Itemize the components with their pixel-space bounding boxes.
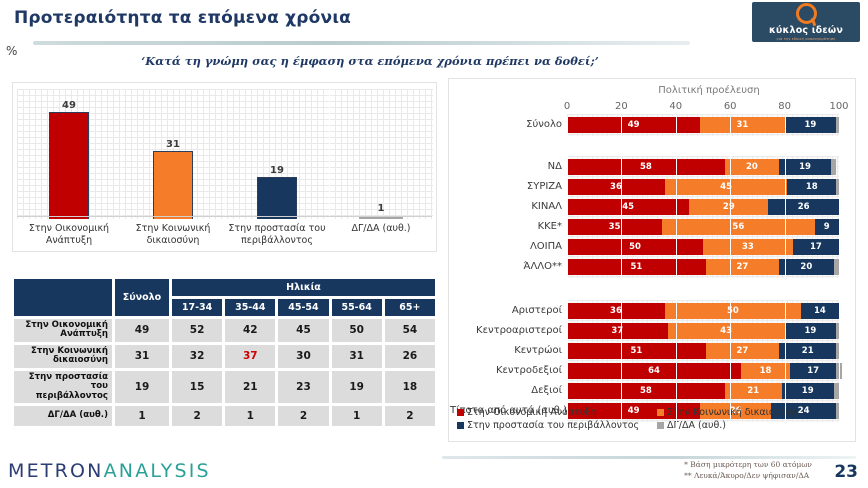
table-cell: 19 [331,370,383,404]
stacked-bar-segment: 37 [567,323,668,339]
stacked-bar-segment: 21 [725,383,782,399]
table-cell: 31 [331,344,383,369]
table-cell: 45 [277,318,329,343]
bar-category-label: Στην Κοινωνική δικαιοσύνη [121,223,225,246]
stacked-bar-segment: 56 [662,219,814,235]
legend-item: ΔΓ/ΔΑ (αυθ.) [657,420,726,431]
gridline [567,117,568,423]
stacked-bar-segment: 35 [567,219,662,235]
table-cell-total: 49 [114,318,170,343]
bar-value-label: 19 [270,165,284,176]
stacked-bar-segment: 18 [741,363,790,379]
table-row-label: Στην προστασία του περιβάλλοντος [13,370,113,404]
table-cell-total: 1 [114,405,170,427]
priority-bar-chart-panel: 4931191 Στην Οικονομική ΑνάπτυξηΣτην Κοι… [12,82,437,252]
table-row: ΔΓ/ΔΑ (αυθ.)121212 [13,405,436,427]
legend-item: Στην Οικονομική Ανάπτυξη [457,407,597,418]
table-row-label: ΔΓ/ΔΑ (αυθ.) [13,405,113,427]
stacked-bar-row: Κεντρώοι512721 [567,343,839,359]
table-cell: 54 [384,318,436,343]
x-axis-tick: 100 [829,101,848,112]
stacked-bar-segment: 50 [665,303,801,319]
x-axis-tick: 60 [724,101,737,112]
gridline [730,117,731,423]
logo-tagline: για την εθνική ανασυγκρότηση [777,37,836,41]
stacked-bar-row-label: ΆΛΛΟ** [450,259,567,275]
stacked-bar-row-label: Κεντρώοι [450,343,567,359]
x-axis-tick: 0 [564,101,570,112]
stacked-bar-row: ΣΥΡΙΖΑ364518 [567,179,839,195]
x-axis-tick: 20 [615,101,628,112]
table-row-label: Στην Κοινωνική δικαιοσύνη [13,344,113,369]
table-cell: 21 [224,370,276,404]
bar [257,177,297,219]
table-row: Στην προστασία του περιβάλλοντος19152123… [13,370,436,404]
stacked-bar-row: ΚΙΝΑΛ452926 [567,199,839,215]
bar-category-label: ΔΓ/ΔΑ (αυθ.) [329,223,433,235]
stacked-bar-segment: 29 [689,199,768,215]
circle-logo-icon [796,3,817,24]
stacked-bar-row: Κεντροδεξιοί641817 [567,363,839,379]
stacked-bar-segment: 27 [706,259,779,275]
stacked-bar-row-label: Κεντροδεξιοί [450,363,567,379]
stacked-bar-segment: 36 [567,179,665,195]
table-cell: 2 [384,405,436,427]
table-cell: 1 [331,405,383,427]
stacked-bar-row-label: ΣΥΡΙΖΑ [450,179,567,195]
stacked-bar-segment: 49 [567,117,700,133]
table-header-total: Σύνολο [114,278,170,317]
table-cell: 26 [384,344,436,369]
stacked-bar-segment: 20 [779,259,833,275]
bar [49,112,89,219]
stacked-chart-x-axis: 020406080100 [449,101,855,115]
stacked-bar-row-label: ΝΔ [450,159,567,175]
table-header-row-1: Σύνολο Ηλικία [13,278,436,297]
bar-column: 49 [17,89,121,219]
stacked-bar-segment: 14 [801,303,839,319]
stacked-bar-segment: 43 [668,323,785,339]
legend-item: Στην Κοινωνική δικαιοσύνη [657,407,798,418]
gridline [839,117,840,423]
stacked-bar-segment: 17 [793,239,839,255]
stacked-bar-segment: 19 [782,383,834,399]
table-cell: 23 [277,370,329,404]
stacked-bar-segment [831,159,836,175]
stacked-bar-row-label: Σύνολο [450,117,567,133]
table-row-label: Στην Οικονομική Ανάπτυξη [13,318,113,343]
stacked-bar-segment: 20 [725,159,779,175]
table-cell: 2 [277,405,329,427]
chart-legend: Στην Οικονομική ΑνάπτυξηΣτην Κοινωνική δ… [457,407,851,437]
legend-item: Στην προστασία του περιβάλλοντος [457,420,639,431]
stacked-bar-segment: 19 [779,159,831,175]
legend-swatch [457,422,464,429]
brand-metron: METRON [8,460,104,482]
stacked-bar-row: ΆΛΛΟ**512720 [567,259,839,275]
bar [153,151,193,219]
stacked-bar-segment: 17 [790,363,836,379]
bar-baseline [17,216,432,217]
table-cell: 2 [171,405,223,427]
logo-name: κύκλος ιδεών [769,25,843,36]
stacked-bar-row-label: ΚΚΕ* [450,219,567,235]
stacked-bar-segment: 18 [787,179,836,195]
bar-value-label: 49 [62,100,76,111]
gridline [785,117,786,423]
stacked-bar-row: Δεξιοί582119 [567,383,839,399]
stacked-bar-row: ΝΔ582019 [567,159,839,175]
stacked-bar-row-label: ΚΙΝΑΛ [450,199,567,215]
stacked-bar-segment: 36 [567,303,665,319]
metron-analysis-logo: METRONANALYSIS [8,460,211,482]
stacked-chart-title: Πολιτική προέλευση [569,85,849,96]
stacked-bar-segment: 31 [700,117,784,133]
stacked-bar-row-label: ΛΟΙΠΑ [450,239,567,255]
stacked-bar-row: ΛΟΙΠΑ503317 [567,239,839,255]
bar-value-label: 31 [166,139,180,150]
stacked-bar-segment: 26 [768,199,839,215]
stacked-bar-row-label: Δεξιοί [450,383,567,399]
stacked-bar-segment: 51 [567,343,706,359]
bar-category-label: Στην προστασία του περιβάλλοντος [225,223,329,246]
stacked-bar-segment: 19 [785,117,837,133]
stacked-bar-segment: 19 [785,323,837,339]
bar-column: 19 [225,89,329,219]
stacked-bar-segment: 9 [815,219,839,235]
table-cell-total: 31 [114,344,170,369]
bar-value-label: 1 [378,203,385,214]
stacked-bar-row-label: Κεντροαριστεροί [450,323,567,339]
page-title: Προτεραιότητα τα επόμενα χρόνια [14,8,351,28]
footer-divider [442,456,856,459]
legend-swatch [457,409,464,416]
table-row: Στην Οικονομική Ανάπτυξη495242455054 [13,318,436,343]
age-breakdown-table: Σύνολο Ηλικία 17-3435-4445-5455-6465+ Στ… [12,277,437,428]
table-cell: 52 [171,318,223,343]
table-header-age: 35-44 [224,298,276,317]
table-head: Σύνολο Ηλικία 17-3435-4445-5455-6465+ [13,278,436,317]
legend-label: Στην Οικονομική Ανάπτυξη [467,407,597,418]
stacked-bar-row: Αριστεροί365014 [567,303,839,319]
stacked-bar-segment: 45 [567,199,689,215]
title-divider [33,41,690,45]
brand-analysis: ANALYSIS [104,460,211,482]
legend-label: Στην Κοινωνική δικαιοσύνη [667,407,798,418]
stacked-bar-segment: 64 [567,363,741,379]
x-axis-tick: 80 [778,101,791,112]
stacked-bar-segment: 21 [779,343,836,359]
footnotes: * Βάση μικρότερη των 60 ατόμων ** Λευκά/… [684,460,812,482]
footnote-1: * Βάση μικρότερη των 60 ατόμων [684,460,812,471]
legend-swatch [657,422,664,429]
stacked-bar-row-label: Αριστεροί [450,303,567,319]
gridline [676,117,677,423]
stacked-bar-segment: 50 [567,239,703,255]
political-origin-chart-panel: Πολιτική προέλευση 020406080100 Σύνολο49… [448,78,856,442]
table-header-age: 17-34 [171,298,223,317]
table-cell-total: 19 [114,370,170,404]
bar-column: 1 [329,89,433,219]
page-number: 23 [834,462,858,482]
table-cell: 18 [384,370,436,404]
stacked-bar-row: Σύνολο493119 [567,117,839,133]
table-header-age: 55-64 [331,298,383,317]
stacked-bar-segment: 27 [706,343,779,359]
table-header-age: 45-54 [277,298,329,317]
gridline [621,117,622,423]
stacked-bar-segment: 45 [665,179,787,195]
question-subtitle: ‘Κατά τη γνώμη σας η έμφαση στα επόμενα … [0,54,740,68]
legend-label: Στην προστασία του περιβάλλοντος [467,420,639,431]
stacked-bar-segment: 51 [567,259,706,275]
table-row: Στην Κοινωνική δικαιοσύνη313237303126 [13,344,436,369]
stacked-bar-row: Κεντροαριστεροί374319 [567,323,839,339]
kyklos-ideon-logo: κύκλος ιδεών για την εθνική ανασυγκρότησ… [752,2,860,42]
legend-swatch [657,409,664,416]
stacked-bar-segment: 58 [567,159,725,175]
table-cell: 1 [224,405,276,427]
table-cell: 50 [331,318,383,343]
bar-chart-plot-area: 4931191 [17,89,433,219]
table-header-age-group: Ηλικία [171,278,436,297]
bar-category-label: Στην Οικονομική Ανάπτυξη [17,223,121,246]
table-cell: 15 [171,370,223,404]
x-axis-tick: 40 [669,101,682,112]
table-cell: 32 [171,344,223,369]
stacked-bar-segment: 33 [703,239,793,255]
table-corner-cell [13,278,113,317]
table-header-age: 65+ [384,298,436,317]
table-cell: 30 [277,344,329,369]
stacked-bar-row: ΚΚΕ*35569 [567,219,839,235]
table-cell: 42 [224,318,276,343]
table-body: Στην Οικονομική Ανάπτυξη495242455054Στην… [13,318,436,427]
table-cell: 37 [224,344,276,369]
stacked-bar-segment: 58 [567,383,725,399]
stacked-chart-plot-area: Σύνολο493119ΝΔ582019ΣΥΡΙΖΑ364518ΚΙΝΑΛ452… [449,117,855,435]
bar-column: 31 [121,89,225,219]
footnote-2: ** Λευκά/Άκυρο/Δεν ψήφισαν/ΔΑ [684,471,812,482]
